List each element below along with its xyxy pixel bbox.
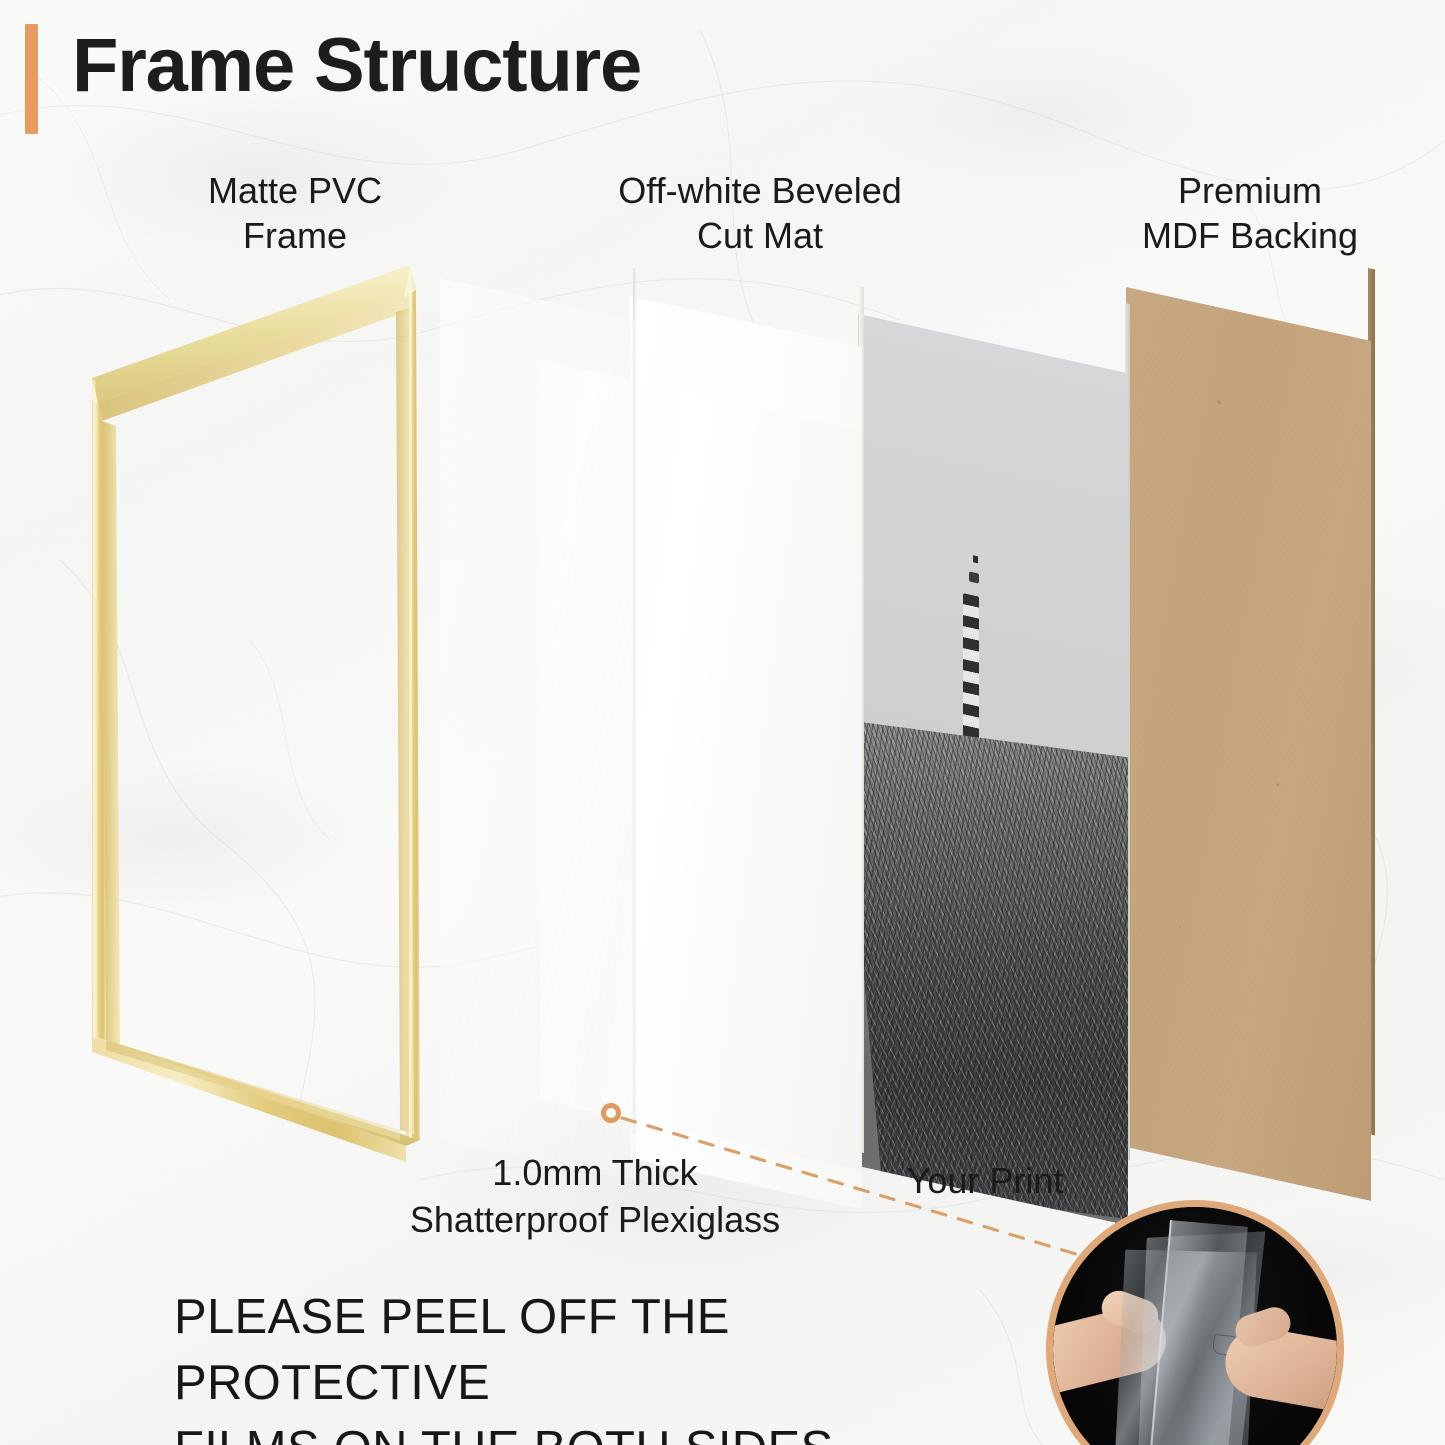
layer-shatterproof-plexiglass: [440, 278, 636, 1183]
label-your-print: Your Print: [840, 1158, 1130, 1205]
lighthouse-cap-icon: [973, 555, 978, 563]
label-line-1: Your Print: [840, 1158, 1130, 1205]
label-off-white-beveled-cut-mat: Off-white Beveled Cut Mat: [565, 168, 955, 258]
cta-line-1: PLEASE PEEL OFF THE PROTECTIVE: [174, 1284, 1034, 1416]
infographic-canvas: Frame Structure Matte PVC Frame Off-whit…: [0, 0, 1445, 1445]
lighthouse-lantern-icon: [969, 571, 979, 583]
label-shatterproof-plexiglass: 1.0mm Thick Shatterproof Plexiglass: [250, 1150, 940, 1244]
inset-photo-content: [1053, 1207, 1337, 1445]
label-line-2: Cut Mat: [565, 213, 955, 258]
label-premium-mdf-backing: Premium MDF Backing: [1080, 168, 1420, 258]
label-line-1: 1.0mm Thick: [250, 1150, 940, 1197]
cta-text: PLEASE PEEL OFF THE PROTECTIVE FILMS ON …: [174, 1284, 1034, 1445]
label-line-2: MDF Backing: [1080, 213, 1420, 258]
layer-premium-mdf-backing: [1126, 287, 1371, 1201]
layer-matte-pvc-frame: [60, 250, 460, 1170]
callout-marker-icon: [601, 1103, 621, 1123]
label-line-1: Matte PVC: [150, 168, 440, 213]
cta-line-2: FILMS ON THE BOTH SIDES: [174, 1416, 833, 1445]
page-title: Frame Structure: [72, 26, 641, 106]
label-line-2: Shatterproof Plexiglass: [250, 1197, 940, 1244]
layer-your-print: [858, 314, 1128, 1225]
label-line-1: Premium: [1080, 168, 1420, 213]
label-line-1: Off-white Beveled: [565, 168, 955, 213]
label-matte-pvc-frame: Matte PVC Frame: [150, 168, 440, 258]
title-accent-bar: [25, 24, 38, 134]
